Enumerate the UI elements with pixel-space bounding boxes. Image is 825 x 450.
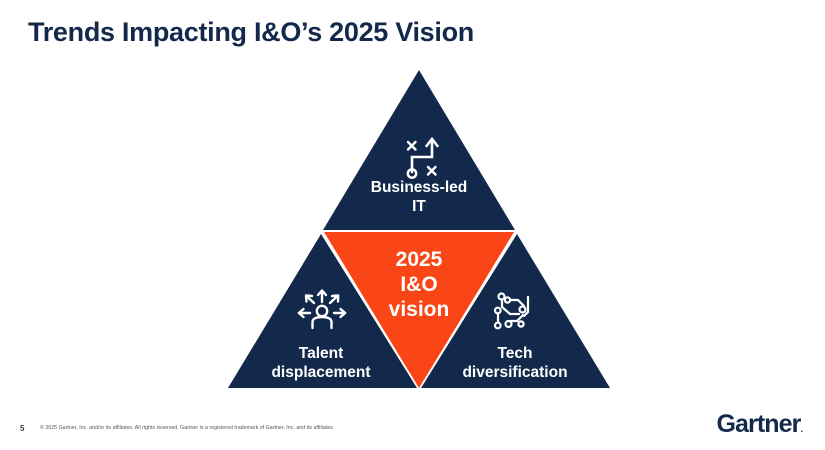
pyramid-diagram: Business-led IT	[0, 0, 825, 450]
center-vision-label-2: I&O	[400, 273, 437, 296]
copyright-notice: © 2025 Gartner, Inc. and/or its affiliat…	[40, 425, 334, 431]
triangle-talent-displacement-label-2: displacement	[271, 364, 370, 381]
triangle-tech-diversification-label-2: diversification	[462, 364, 567, 381]
triangle-business-led-it[interactable]: Business-led IT	[323, 70, 515, 230]
gartner-logo-mark: .	[800, 424, 803, 434]
center-vision-label-1: 2025	[396, 248, 443, 271]
gartner-logo: Gartner.	[716, 412, 803, 437]
slide-canvas: Trends Impacting I&O’s 2025 Vision	[0, 0, 825, 450]
triangle-talent-displacement-label-1: Talent	[299, 345, 344, 362]
page-number: 5	[20, 424, 24, 433]
triangle-tech-diversification-label-1: Tech	[497, 345, 532, 362]
gartner-logo-text: Gartner	[716, 410, 800, 438]
triangle-business-led-it-label-1: Business-led	[371, 179, 467, 196]
center-vision-label-3: vision	[389, 298, 450, 321]
triangle-business-led-it-label-2: IT	[412, 198, 426, 215]
